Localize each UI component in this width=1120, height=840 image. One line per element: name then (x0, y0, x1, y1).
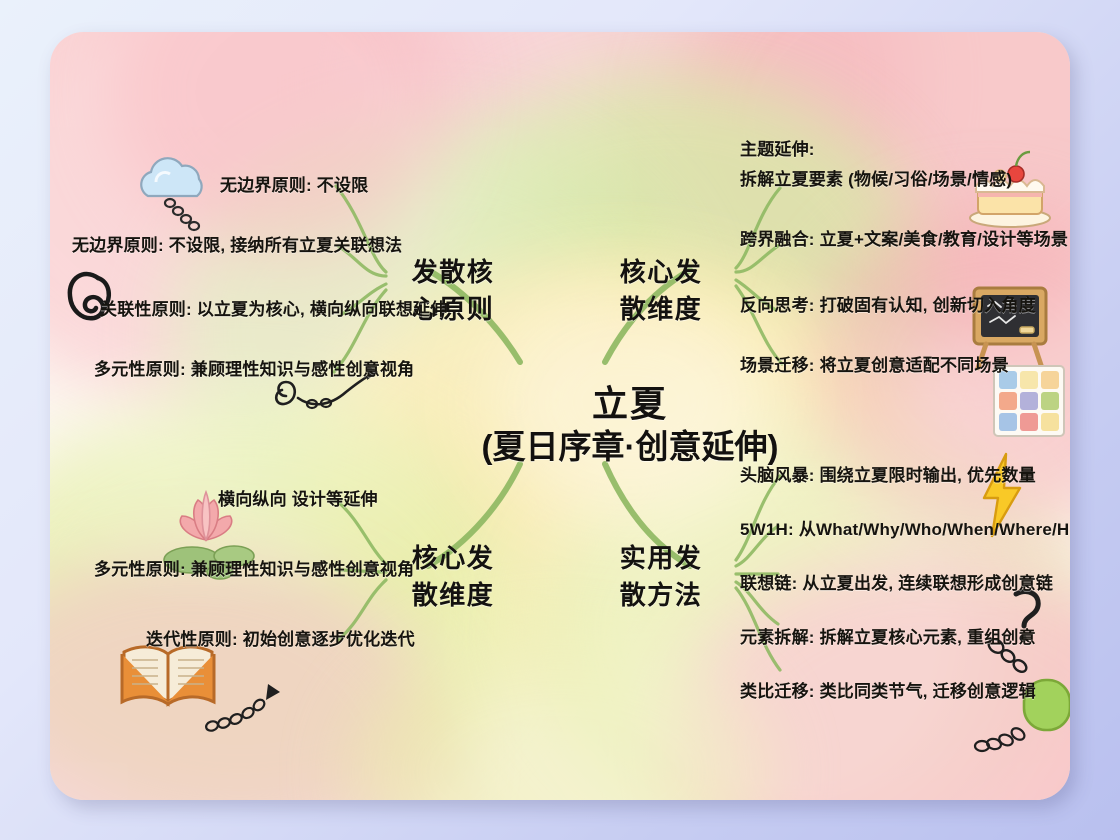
center-title-line1: 立夏 (480, 382, 780, 427)
leaf-tl-4[interactable]: 多元性原则: 兼顾理性知识与感性创意视角 (94, 358, 414, 383)
leaf-tl-1[interactable]: 无边界原则: 不设限 (220, 174, 368, 199)
branch-title-line2: 散维度 (606, 291, 716, 328)
watercolor-wash (50, 552, 450, 800)
mindmap-canvas: 立夏 (夏日序章·创意延伸) 发散核 心原则 核心发 散维度 核心发 散维度 实… (50, 32, 1070, 800)
chain-arrow-icon (200, 680, 320, 740)
branch-title-line2: 散方法 (606, 577, 716, 614)
leaf-bl-1[interactable]: 横向纵向 设计等延伸 (218, 488, 378, 513)
center-title-line2: (夏日序章·创意延伸) (480, 427, 780, 468)
leaf-tr-3[interactable]: 跨界融合: 立夏+文案/美食/教育/设计等场景 (740, 228, 1068, 253)
leaf-br-2[interactable]: 5W1H: 从What/Why/Who/When/Where/How发散 (740, 518, 1070, 543)
leaf-tr-5[interactable]: 场景迁移: 将立夏创意适配不同场景 (740, 354, 1009, 379)
branch-title-line1: 核心发 (398, 540, 508, 577)
watercolor-wash (110, 32, 450, 252)
branch-title-line2: 散维度 (398, 577, 508, 614)
leaf-tr-1[interactable]: 主题延伸: (740, 138, 815, 163)
leaf-tr-4[interactable]: 反向思考: 打破固有认知, 创新切入角度 (740, 294, 1036, 319)
leaf-tl-3[interactable]: 关联性原则: 以立夏为核心, 横向纵向联想延伸 (100, 298, 447, 323)
center-node[interactable]: 立夏 (夏日序章·创意延伸) (480, 382, 780, 468)
cloud-chain-icon (126, 150, 222, 240)
leaf-br-4[interactable]: 元素拆解: 拆解立夏核心元素, 重组创意 (740, 626, 1036, 651)
watercolor-wash (50, 32, 550, 412)
branch-title-bottom-left[interactable]: 核心发 散维度 (398, 540, 508, 614)
leaf-br-3[interactable]: 联想链: 从立夏出发, 连续联想形成创意链 (740, 572, 1053, 597)
branch-title-line1: 核心发 (606, 254, 716, 291)
leaf-tl-2[interactable]: 无边界原则: 不设限, 接纳所有立夏关联想法 (72, 234, 402, 259)
leaf-br-5[interactable]: 类比迁移: 类比同类节气, 迁移创意逻辑 (740, 680, 1036, 705)
twig-tl-1 (336, 186, 386, 272)
leaf-bl-2[interactable]: 多元性原则: 兼顾理性知识与感性创意视角 (94, 558, 414, 583)
branch-title-line1: 实用发 (606, 540, 716, 577)
leaf-br-1[interactable]: 头脑风暴: 围绕立夏限时输出, 优先数量 (740, 464, 1036, 489)
watercolor-wash (350, 632, 770, 800)
branch-title-top-right[interactable]: 核心发 散维度 (606, 254, 716, 328)
leaf-bl-3[interactable]: 迭代性原则: 初始创意逐步优化迭代 (146, 628, 415, 653)
branch-title-line1: 发散核 (398, 254, 508, 291)
branch-title-bottom-right[interactable]: 实用发 散方法 (606, 540, 716, 614)
leaf-tr-2[interactable]: 拆解立夏要素 (物候/习俗/场景/情感) (740, 168, 1012, 193)
